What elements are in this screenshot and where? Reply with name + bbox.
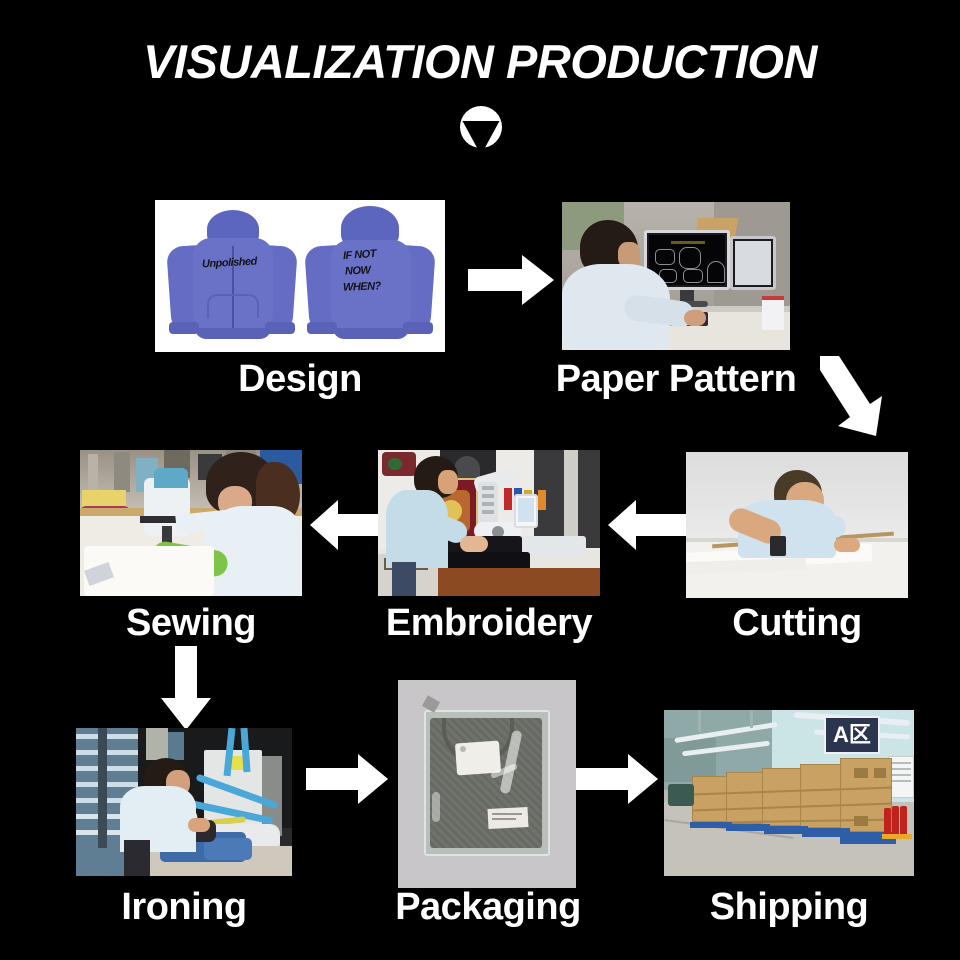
design-back-graffiti-line-1: IF NOT [343,249,377,263]
step-image-cutting [686,452,908,598]
down-triangle-circle-icon [458,105,504,155]
step-label-design: Design [155,358,445,401]
arrow-right-icon-ironing-to-packaging [306,752,388,806]
design-back-graffiti-line-3: WHEN? [343,281,381,294]
arrow-down-icon-sewing-to-ironing [158,646,214,730]
step-label-packaging: Packaging [372,886,604,929]
arrow-down-right-icon-paper-pattern-to-cutting [812,356,886,436]
design-back-graffiti-line-2: NOW [345,265,371,278]
arrow-left-icon-cutting-to-embroidery [608,498,686,552]
step-image-ironing [76,728,292,876]
step-image-sewing [80,450,302,596]
step-image-embroidery [378,450,600,596]
zone-sign-label: A区 [824,716,880,754]
step-label-paper-pattern: Paper Pattern [520,358,832,401]
page-title: VISUALIZATION PRODUCTION [0,34,960,89]
step-image-packaging [398,680,576,888]
step-label-shipping: Shipping [664,886,914,929]
step-label-embroidery: Embroidery [360,602,618,645]
arrow-right-icon-design-to-paper-pattern [468,252,554,308]
step-label-sewing: Sewing [80,602,302,645]
step-image-paper-pattern [562,202,790,350]
step-label-cutting: Cutting [686,602,908,645]
step-image-design: Unpolished IF NOT NOW WHEN? [155,200,445,352]
step-label-ironing: Ironing [76,886,292,929]
step-image-shipping: A区 [664,710,914,876]
arrow-right-icon-packaging-to-shipping [576,752,658,806]
